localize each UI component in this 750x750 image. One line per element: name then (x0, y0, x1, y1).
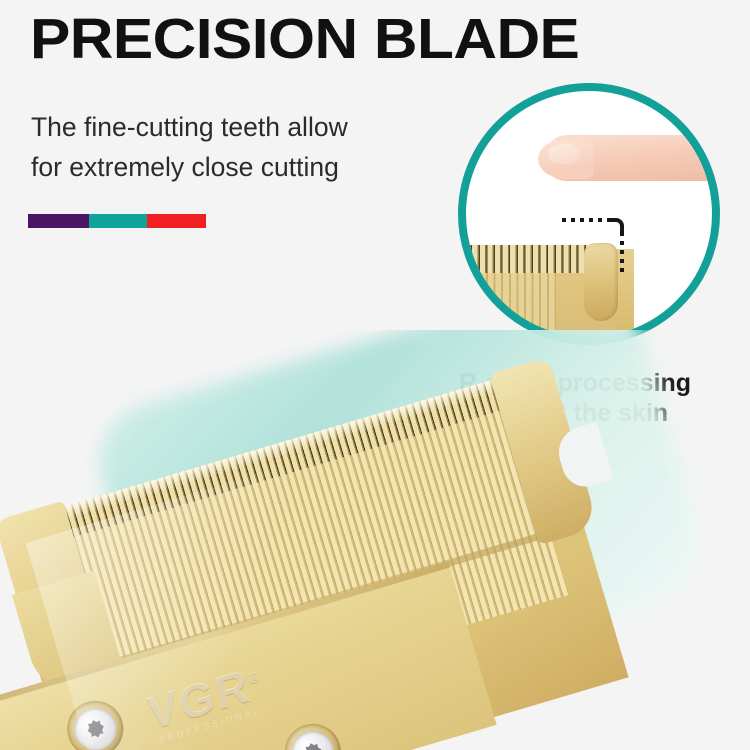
page-title: PRECISION BLADE (30, 9, 750, 69)
dotted-callout-horizontal (562, 218, 614, 222)
dotted-callout-corner-icon (610, 218, 624, 232)
torx-screw-icon (303, 741, 324, 750)
accent-rule-segment-teal (89, 214, 148, 228)
inset-blade-teeth (458, 245, 594, 273)
finger-illustration (544, 135, 720, 181)
blade-assembly: VGR® PROFESSIONAL (0, 330, 750, 750)
product-feature-page: PRECISION BLADE The fine-cutting teeth a… (0, 0, 750, 750)
inset-blade-illustration (458, 231, 674, 345)
dotted-callout-vertical (620, 232, 624, 276)
subtitle: The fine-cutting teeth allow for extreme… (31, 107, 431, 187)
accent-rule (28, 214, 206, 228)
subtitle-line-1: The fine-cutting teeth allow (31, 112, 348, 142)
detail-circle-inset (458, 83, 720, 345)
subtitle-line-2: for extremely close cutting (31, 147, 431, 187)
torx-screw-icon (85, 718, 106, 740)
accent-rule-segment-red (147, 214, 206, 228)
accent-rule-segment-purple (28, 214, 89, 228)
finger-knuckle-crease (716, 143, 718, 173)
product-photo: VGR® PROFESSIONAL (0, 330, 750, 750)
inset-blade-rounded-tip (584, 243, 618, 321)
screw-head (69, 703, 121, 750)
brand-registered-mark: ® (247, 668, 262, 687)
